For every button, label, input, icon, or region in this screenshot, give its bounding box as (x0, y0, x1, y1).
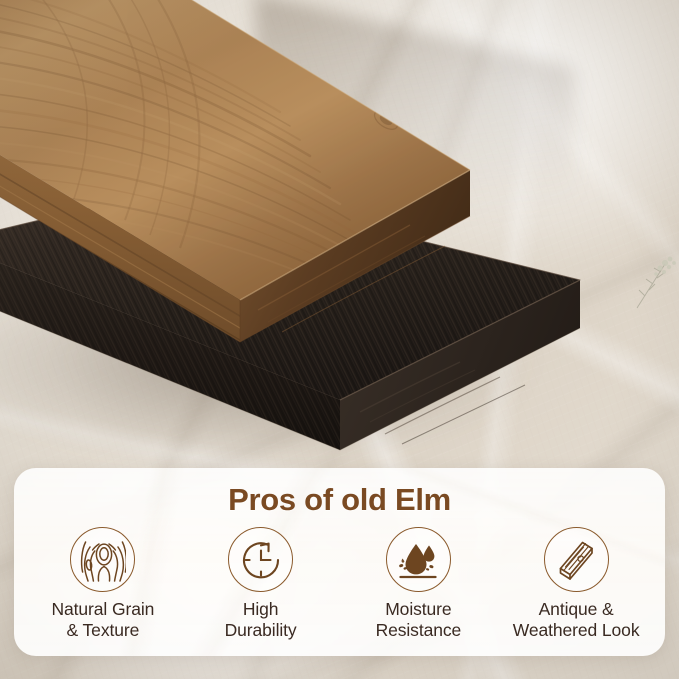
feature-label: Natural Grain & Texture (51, 599, 154, 642)
wood-plank-icon (544, 527, 609, 592)
pros-info-card: Pros of old Elm (14, 468, 665, 656)
wood-grain-icon (70, 527, 135, 592)
clock-refresh-icon (228, 527, 293, 592)
feature-natural-grain[interactable]: Natural Grain & Texture (24, 527, 182, 642)
feature-list: Natural Grain & Texture (14, 518, 665, 642)
feature-label: High Durability (225, 599, 297, 642)
feature-moisture-resistance[interactable]: Moisture Resistance (340, 527, 498, 642)
product-infographic: Pros of old Elm (0, 0, 679, 679)
feature-antique-weathered[interactable]: Antique & Weathered Look (497, 527, 655, 642)
feature-label: Antique & Weathered Look (513, 599, 640, 642)
feature-high-durability[interactable]: High Durability (182, 527, 340, 642)
feature-label: Moisture Resistance (376, 599, 462, 642)
card-title: Pros of old Elm (14, 482, 665, 518)
water-droplet-icon (386, 527, 451, 592)
